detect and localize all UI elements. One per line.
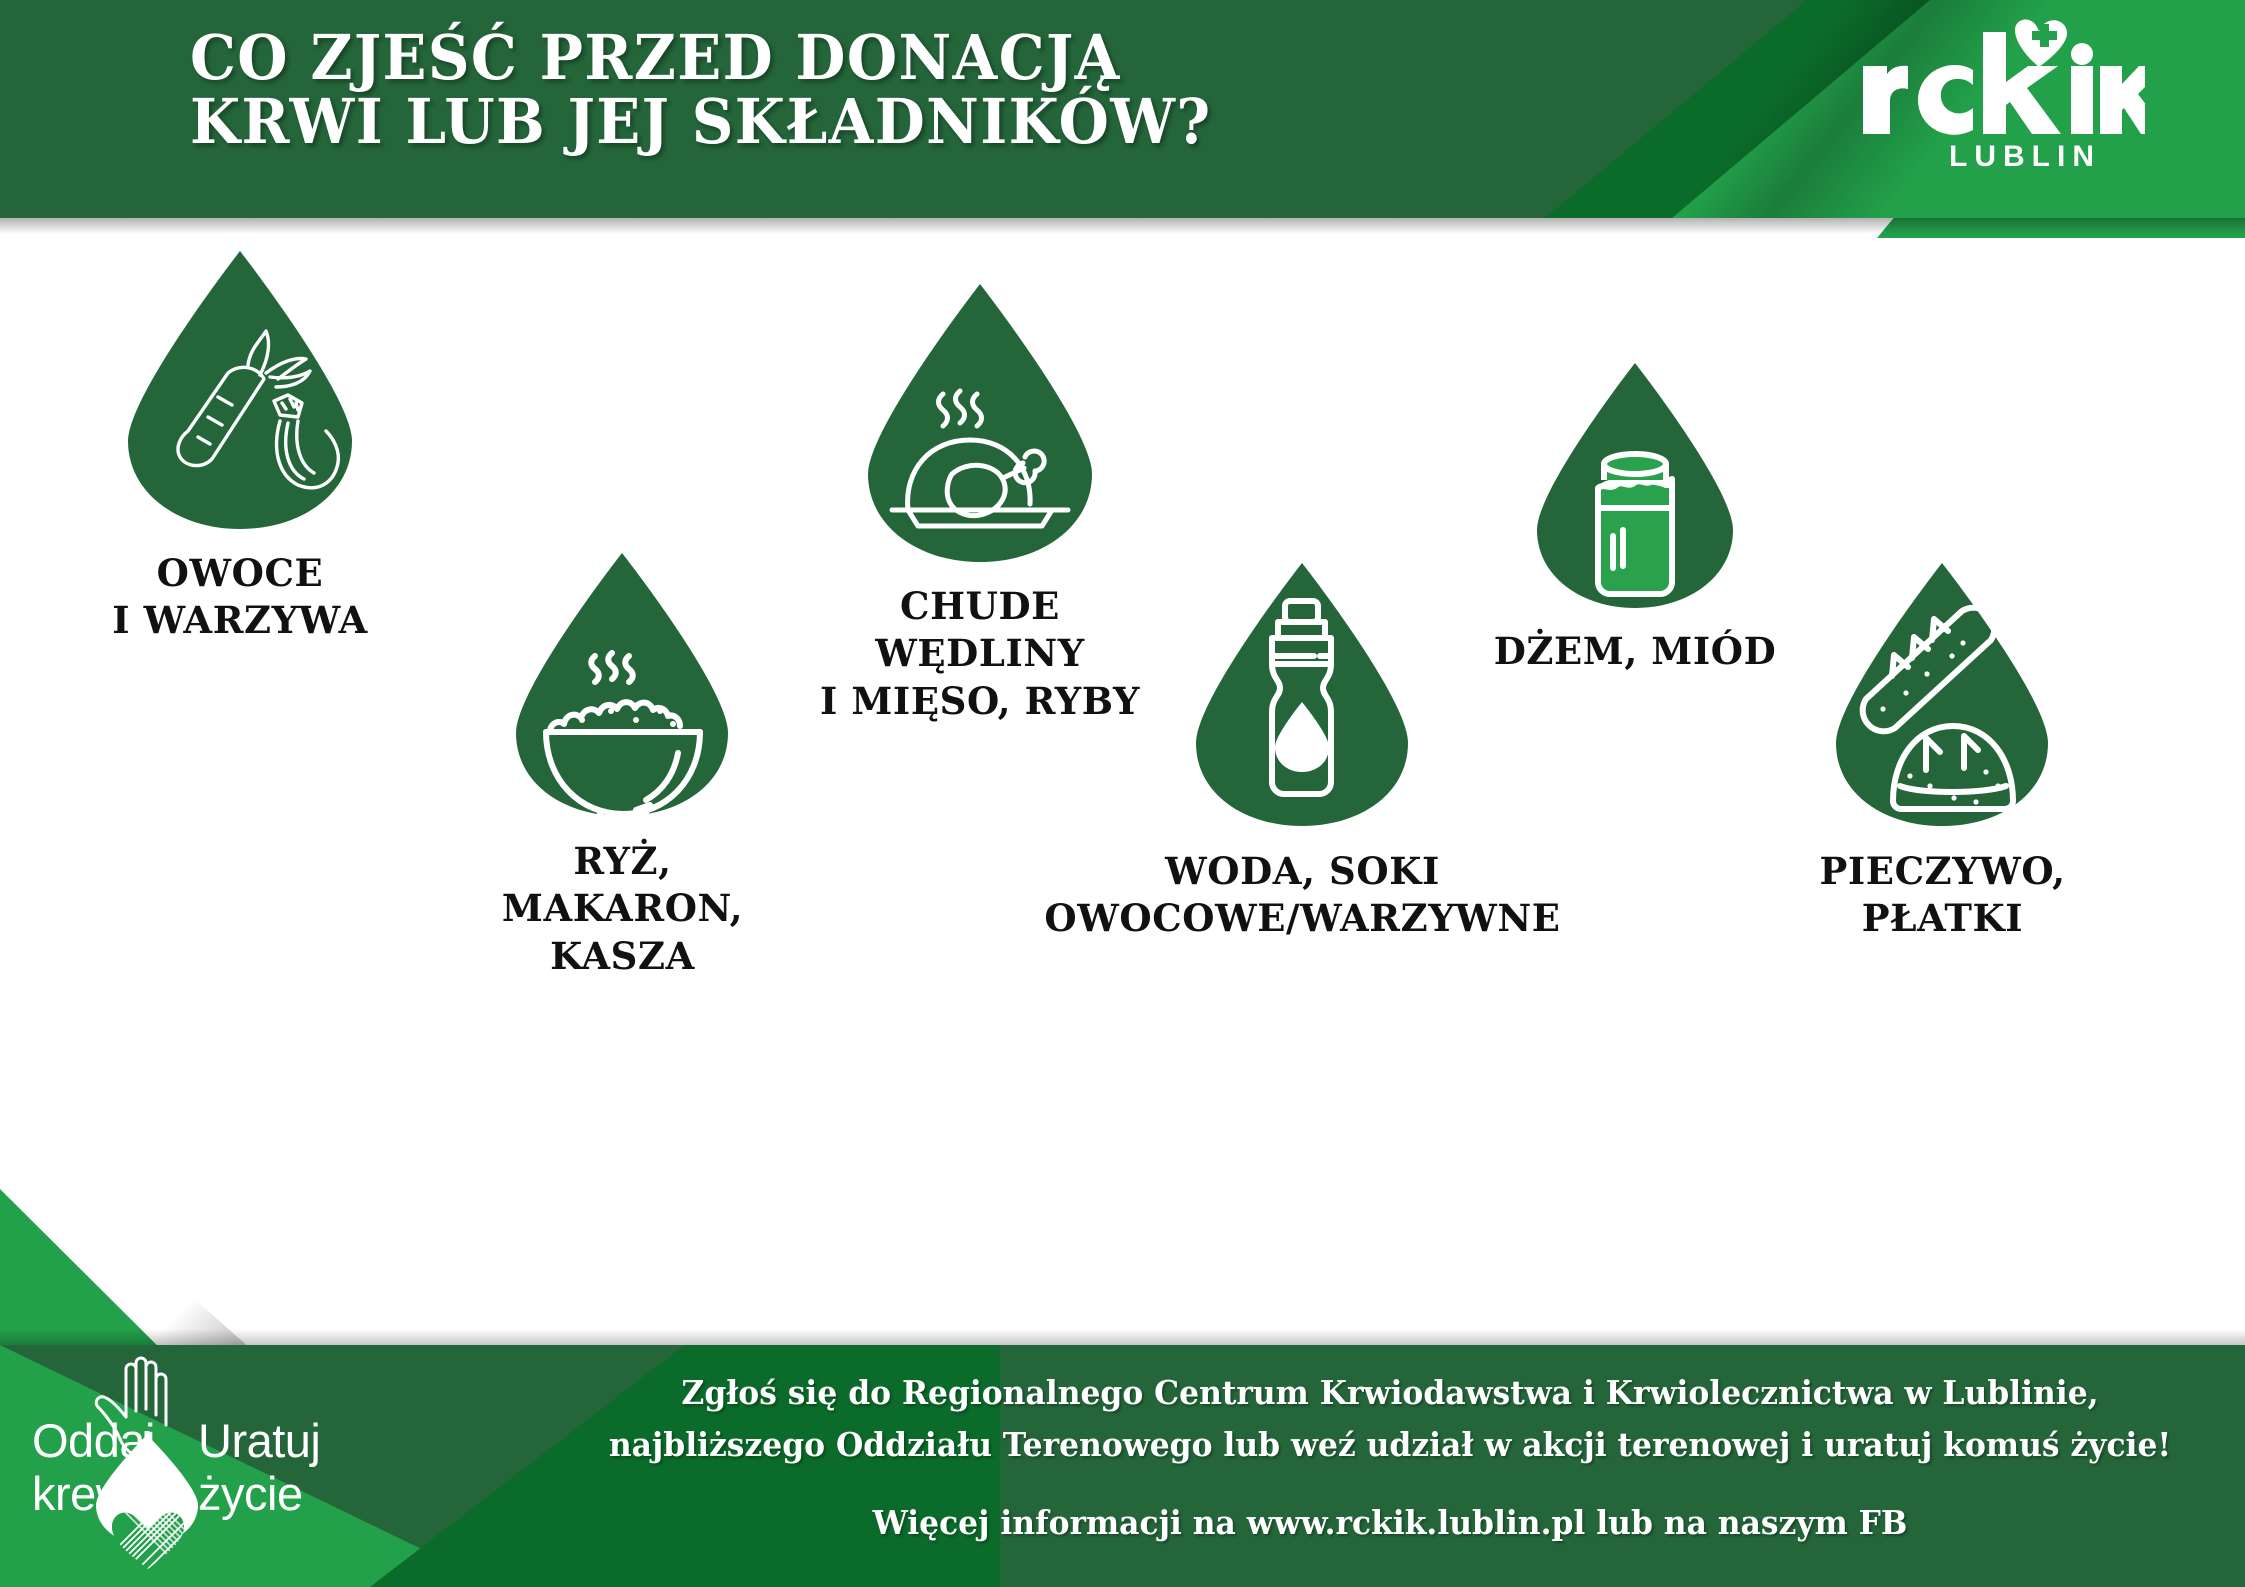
item-label-line: RYŻ, (502, 838, 743, 885)
item-label-line: MAKARON, (502, 885, 743, 932)
item-water-juices: WODA, SOKI OWOCOWE/WARZYWNE (1190, 558, 1415, 833)
campaign-logo-left-text: Oddaj krew (32, 1415, 155, 1520)
footer-band: Zgłoś się do Regionalnego Centrum Krwiod… (0, 1345, 2245, 1587)
page-title-line-2: KRWI LUB JEJ SKŁADNIKÓW? (190, 90, 1212, 154)
rckik-logo: LUBLIN (1855, 18, 2145, 174)
header-dropshadow (0, 218, 2245, 234)
campaign-logo-right-text: Uratuj życie (198, 1415, 320, 1520)
campaign-word-zycie: życie (198, 1468, 320, 1521)
footer-line-3: Więcej informacji na www.rckik.lublin.pl… (602, 1497, 2179, 1549)
footer-dropshadow (0, 1329, 2245, 1345)
campaign-word-oddaj: Oddaj (32, 1415, 155, 1468)
item-label-line: PIECZYWO, (1819, 848, 2065, 895)
item-label: PIECZYWO, PŁATKI (1819, 848, 2065, 943)
campaign-word-krew: krew (32, 1468, 155, 1521)
item-lean-meat: CHUDE WĘDLINY I MIĘSO, RYBY (860, 278, 1100, 568)
droplet-shape (1190, 558, 1415, 833)
infographic-poster: CO ZJEŚĆ PRZED DONACJĄ KRWI LUB JEJ SKŁA… (0, 0, 2245, 1587)
item-label-line: CHUDE (820, 583, 1140, 630)
rckik-wordmark (1855, 18, 2145, 138)
item-label: CHUDE WĘDLINY I MIĘSO, RYBY (820, 583, 1140, 725)
item-label-line: WODA, SOKI (1044, 848, 1560, 895)
item-rice-pasta: RYŻ, MAKARON, KASZA (510, 548, 735, 823)
item-label-line: DŻEM, MIÓD (1494, 628, 1777, 675)
footer-line-2: najbliższego Oddziału Terenowego lub weź… (602, 1419, 2179, 1471)
droplet-shape (1530, 358, 1740, 613)
droplet-shape (120, 245, 360, 535)
droplet-shape (510, 548, 735, 823)
item-label-line: PŁATKI (1819, 895, 2065, 942)
item-label-line: I WARZYWA (112, 597, 368, 644)
item-label-line: OWOCE (112, 550, 368, 597)
footer-message: Zgłoś się do Regionalnego Centrum Krwiod… (602, 1367, 2179, 1549)
page-title: CO ZJEŚĆ PRZED DONACJĄ KRWI LUB JEJ SKŁA… (190, 26, 1212, 155)
item-label-line: KASZA (502, 933, 743, 980)
campaign-logo: Oddaj krew Uratuj życie (20, 1347, 350, 1577)
item-label-line: I MIĘSO, RYBY (820, 678, 1140, 725)
footer-spacer (602, 1471, 2179, 1497)
item-label: OWOCE I WARZYWA (112, 550, 368, 645)
rckik-city-label: LUBLIN (1855, 140, 2145, 174)
item-jam-honey: DŻEM, MIÓD (1530, 358, 1740, 613)
jam-jar-icon (1598, 454, 1672, 594)
item-label-line: WĘDLINY (820, 630, 1140, 677)
item-fruits-vegetables: OWOCE I WARZYWA (120, 245, 360, 535)
footer-line-1: Zgłoś się do Regionalnego Centrum Krwiod… (602, 1367, 2179, 1419)
rckik-logo-svg (1855, 18, 2145, 138)
droplet-shape (1830, 558, 2055, 833)
item-bread-cereal: PIECZYWO, PŁATKI (1830, 558, 2055, 833)
campaign-word-uratuj: Uratuj (198, 1415, 320, 1468)
item-label: RYŻ, MAKARON, KASZA (502, 838, 743, 980)
page-title-line-1: CO ZJEŚĆ PRZED DONACJĄ (190, 26, 1212, 90)
droplet-shape (860, 278, 1100, 568)
item-label-line: OWOCOWE/WARZYWNE (1044, 895, 1560, 942)
heart-with-cross-icon (2015, 19, 2067, 67)
item-label: WODA, SOKI OWOCOWE/WARZYWNE (1044, 848, 1560, 943)
item-label: DŻEM, MIÓD (1494, 628, 1777, 675)
